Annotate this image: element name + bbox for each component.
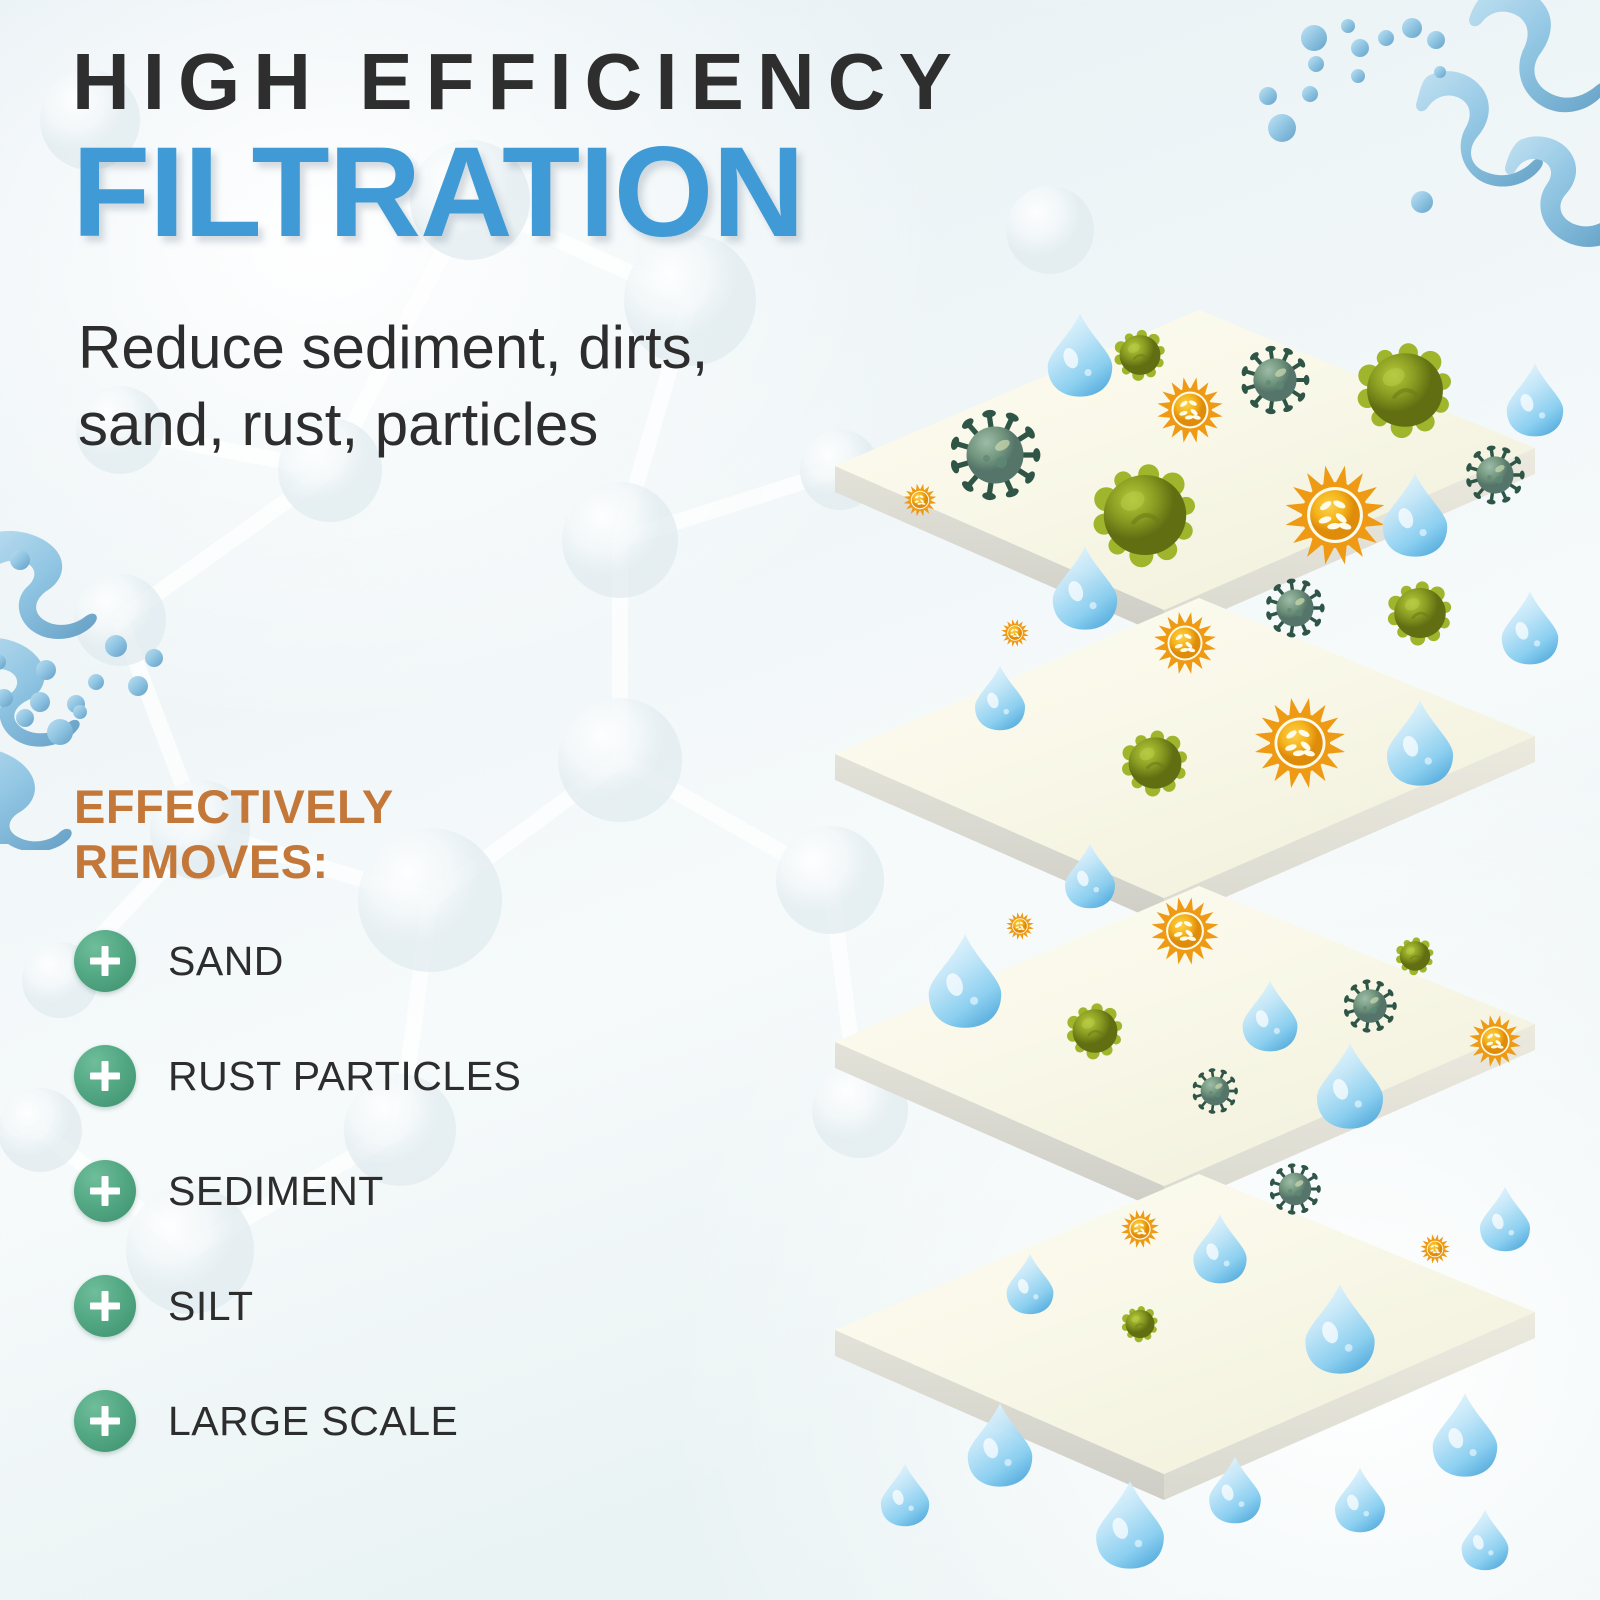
virus-spike-head: [1304, 375, 1310, 385]
clean-water-droplet-icon: [881, 1464, 929, 1526]
virus-body: [1476, 456, 1513, 493]
virus-spike-head: [1269, 1191, 1275, 1200]
removes-heading: EFFECTIVELY REMOVES:: [74, 780, 394, 889]
droplet-highlight: [1089, 602, 1096, 609]
water-droplet-icon: [1502, 592, 1558, 665]
virus-body: [1008, 626, 1022, 640]
droplet-highlight: [1539, 412, 1545, 418]
list-item: RUST PARTICLES: [74, 1045, 521, 1107]
virus-detail: [1287, 608, 1291, 612]
droplet-highlight: [1004, 1459, 1011, 1466]
plus-icon: [74, 1160, 136, 1222]
droplet-highlight: [908, 1506, 913, 1511]
droplet-highlight: [1003, 709, 1009, 715]
virus-orange-icon: [1420, 1234, 1449, 1263]
virus-detail: [1363, 1006, 1367, 1010]
water-droplet-icon: [1480, 1187, 1530, 1251]
virus-detail: [983, 455, 990, 462]
list-item: LARGE SCALE: [74, 1390, 521, 1452]
list-item-label: SAND: [168, 938, 284, 985]
virus-spike-head: [1320, 604, 1325, 613]
filter-layer-2: [835, 546, 1558, 924]
virus-spike-head: [1265, 595, 1272, 605]
virus-spike-head: [1486, 499, 1496, 505]
headline-line-1: HIGH EFFICIENCY: [72, 42, 965, 122]
water-droplet-icon: [1507, 364, 1563, 437]
subtitle-text: Reduce sediment, dirts, sand, rust, part…: [78, 310, 718, 464]
list-item-label: SEDIMENT: [168, 1168, 384, 1215]
virus-body: [1253, 358, 1296, 401]
virus-detail: [1487, 475, 1491, 479]
virus-body: [1279, 1173, 1311, 1205]
virus-body: [1174, 394, 1207, 427]
droplet-highlight: [1274, 1028, 1280, 1034]
plus-icon: [74, 930, 136, 992]
virus-detail: [1295, 1190, 1301, 1196]
filter-layer-4: [835, 1163, 1535, 1500]
virus-spike-head: [1520, 471, 1525, 480]
virus-spike-head: [1033, 448, 1041, 462]
virus-detail: [1215, 1092, 1221, 1098]
virus-detail: [996, 457, 1007, 468]
plus-icon: [74, 1390, 136, 1452]
droplet-highlight: [1363, 1511, 1369, 1517]
droplet-highlight: [1345, 1344, 1353, 1352]
droplet-highlight: [1419, 529, 1426, 536]
virus-spike-head: [1316, 1185, 1320, 1193]
virus-spike-head: [1269, 1178, 1275, 1187]
germ-green-icon: [1388, 581, 1451, 645]
virus-orange-icon: [1006, 912, 1033, 939]
droplet-highlight: [970, 997, 978, 1005]
virus-body: [1310, 490, 1360, 540]
removes-heading-line-2: REMOVES:: [74, 835, 394, 890]
droplet-highlight: [1508, 1230, 1514, 1236]
virus-spike-head: [1287, 1163, 1295, 1168]
water-droplet-icon: [929, 934, 1002, 1028]
virus-body: [1168, 914, 1202, 948]
droplet-highlight: [1224, 1261, 1230, 1267]
list-item-label: RUST PARTICLES: [168, 1053, 521, 1100]
layer-surface: [835, 1174, 1535, 1474]
virus-detail: [1209, 1091, 1212, 1094]
virus-body: [1276, 589, 1313, 626]
plus-icon: [74, 1275, 136, 1337]
droplet-highlight: [1425, 757, 1432, 764]
droplet-highlight: [1135, 1540, 1143, 1548]
virus-body: [1169, 627, 1200, 658]
virus-spike-head: [1265, 611, 1272, 621]
virus-detail: [1266, 380, 1271, 385]
removes-heading-line-1: EFFECTIVELY: [74, 780, 394, 835]
droplet-highlight: [1355, 1100, 1362, 1107]
virus-detail: [1370, 1007, 1377, 1014]
droplet-highlight: [1033, 1294, 1038, 1299]
virus-detail: [1495, 476, 1502, 483]
removes-list: SAND RUST PARTICLES SEDIMENT SILT LARGE …: [74, 930, 521, 1452]
droplet-highlight: [1093, 887, 1099, 893]
list-item-label: LARGE SCALE: [168, 1398, 458, 1445]
virus-body: [1201, 1077, 1230, 1106]
list-item: SILT: [74, 1275, 521, 1337]
headline-line-2: FILTRATION: [72, 128, 965, 259]
virus-body: [1353, 989, 1387, 1023]
infographic-canvas: HIGH EFFICIENCY FILTRATION Reduce sedime…: [0, 0, 1600, 1600]
droplet-highlight: [1534, 640, 1540, 646]
filter-layer-3: [835, 844, 1535, 1212]
clean-water-droplet-icon: [1433, 1393, 1498, 1476]
droplet-highlight: [1239, 1501, 1245, 1507]
virus-detail: [1275, 381, 1284, 390]
virus-detail: [1288, 1189, 1292, 1193]
filter-layer-1: [835, 310, 1563, 636]
water-droplet-icon: [1048, 313, 1113, 396]
clean-water-droplet-icon: [1335, 1468, 1385, 1532]
virus-body: [1013, 919, 1027, 933]
droplet-highlight: [1488, 1550, 1493, 1555]
clean-water-droplet-icon: [1462, 1510, 1509, 1570]
page-title: HIGH EFFICIENCY FILTRATION: [72, 42, 965, 259]
droplet-highlight: [1469, 1449, 1476, 1456]
list-item: SAND: [74, 930, 521, 992]
virus-body: [967, 427, 1024, 484]
droplet-highlight: [1084, 369, 1091, 376]
virus-detail: [1295, 609, 1302, 616]
virus-spike-head: [1234, 1088, 1238, 1095]
virus-spike-head: [1392, 1002, 1396, 1010]
plus-icon: [74, 1045, 136, 1107]
virus-body: [1482, 1028, 1508, 1054]
list-item-label: SILT: [168, 1283, 254, 1330]
water-splash-top-right-icon: [1190, 0, 1600, 260]
virus-body: [1428, 1242, 1443, 1257]
virus-body: [1277, 720, 1322, 765]
virus-body: [1130, 1219, 1149, 1238]
virus-orange-icon: [1001, 619, 1028, 646]
list-item: SEDIMENT: [74, 1160, 521, 1222]
water-droplet-icon: [975, 666, 1025, 730]
virus-body: [912, 492, 928, 508]
filtration-stack-illustration: [780, 250, 1600, 1600]
